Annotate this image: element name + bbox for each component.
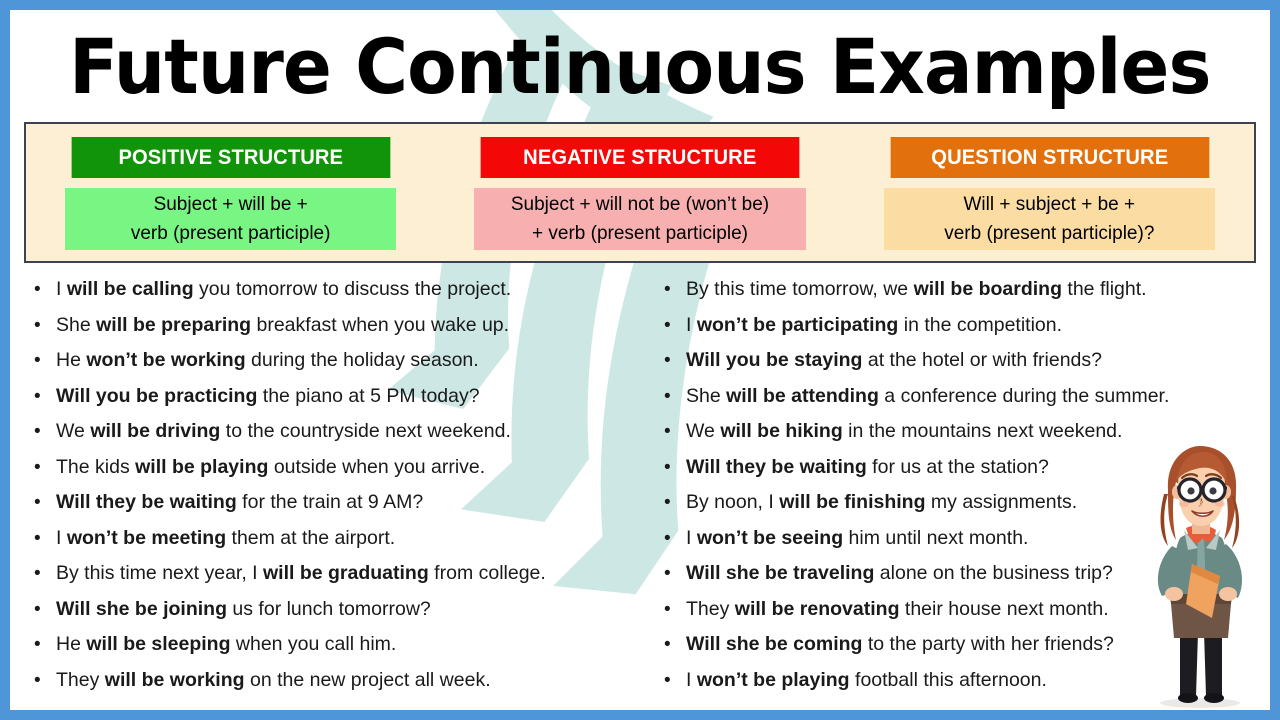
- example-sentence: They will be renovating their house next…: [686, 598, 1264, 621]
- example-item: •They will be renovating their house nex…: [664, 598, 1264, 634]
- bullet-icon: •: [34, 493, 56, 512]
- example-sentence: They will be working on the new project …: [56, 669, 634, 692]
- example-sentence: He won’t be working during the holiday s…: [56, 349, 634, 372]
- bullet-icon: •: [664, 387, 686, 406]
- example-sentence: She will be attending a conference durin…: [686, 385, 1264, 408]
- question-structure-body: Will + subject + be + verb (present part…: [884, 188, 1216, 250]
- example-item: •We will be hiking in the mountains next…: [664, 420, 1264, 456]
- bullet-icon: •: [34, 280, 56, 299]
- example-highlight: Will you be practicing: [56, 385, 257, 407]
- example-highlight: will be working: [105, 669, 245, 691]
- example-sentence: He will be sleeping when you call him.: [56, 633, 634, 656]
- examples-column-left: •I will be calling you tomorrow to discu…: [10, 268, 640, 710]
- example-sentence: By this time tomorrow, we will be boardi…: [686, 278, 1264, 301]
- example-item: •Will she be coming to the party with he…: [664, 633, 1264, 669]
- page-title-text: Future Continuous Examples: [69, 29, 1210, 105]
- example-item: •Will you be practicing the piano at 5 P…: [34, 385, 634, 421]
- example-item: •Will she be joining us for lunch tomorr…: [34, 598, 634, 634]
- bullet-icon: •: [34, 316, 56, 335]
- example-highlight: will be graduating: [263, 562, 429, 584]
- example-highlight: Will she be coming: [686, 633, 862, 655]
- bullet-icon: •: [664, 422, 686, 441]
- positive-structure-body: Subject + will be + verb (present partic…: [65, 188, 397, 250]
- example-highlight: will be playing: [135, 456, 268, 478]
- example-item: •He won’t be working during the holiday …: [34, 349, 634, 385]
- negative-structure-header: NEGATIVE STRUCTURE: [481, 137, 799, 178]
- examples-area: •I will be calling you tomorrow to discu…: [10, 268, 1270, 710]
- examples-column-right: •By this time tomorrow, we will be board…: [640, 268, 1270, 710]
- example-sentence: Will you be practicing the piano at 5 PM…: [56, 385, 634, 408]
- example-item: •The kids will be playing outside when y…: [34, 456, 634, 492]
- example-sentence: The kids will be playing outside when yo…: [56, 456, 634, 479]
- question-structure-header: QUESTION STRUCTURE: [890, 137, 1208, 178]
- example-highlight: will be renovating: [735, 598, 900, 620]
- example-highlight: will be driving: [90, 420, 220, 442]
- example-highlight: will be preparing: [96, 314, 251, 336]
- example-highlight: won’t be working: [86, 349, 245, 371]
- example-highlight: won’t be playing: [697, 669, 850, 691]
- example-highlight: will be boarding: [914, 278, 1062, 300]
- example-highlight: Will they be waiting: [56, 491, 237, 513]
- example-highlight: Will she be joining: [56, 598, 227, 620]
- bullet-icon: •: [34, 671, 56, 690]
- negative-structure-line2: + verb (present participle): [532, 219, 748, 248]
- structure-column-positive: POSITIVE STRUCTURE Subject + will be + v…: [26, 124, 435, 261]
- example-item: •Will they be waiting for us at the stat…: [664, 456, 1264, 492]
- negative-structure-line1: Subject + will not be (won’t be): [511, 190, 769, 219]
- example-sentence: I won’t be meeting them at the airport.: [56, 527, 634, 550]
- example-sentence: We will be driving to the countryside ne…: [56, 420, 634, 443]
- example-item: •By this time tomorrow, we will be board…: [664, 278, 1264, 314]
- example-highlight: will be finishing: [779, 491, 925, 513]
- example-highlight: will be attending: [726, 385, 879, 407]
- example-highlight: Will you be staying: [686, 349, 862, 371]
- example-sentence: Will they be waiting for the train at 9 …: [56, 491, 634, 514]
- example-highlight: won’t be meeting: [67, 527, 226, 549]
- example-item: •Will they be waiting for the train at 9…: [34, 491, 634, 527]
- question-structure-line2: verb (present participle)?: [944, 219, 1154, 248]
- structure-column-question: QUESTION STRUCTURE Will + subject + be +…: [845, 124, 1254, 261]
- example-sentence: Will you be staying at the hotel or with…: [686, 349, 1264, 372]
- bullet-icon: •: [34, 422, 56, 441]
- example-item: •She will be attending a conference duri…: [664, 385, 1264, 421]
- example-sentence: I won’t be participating in the competit…: [686, 314, 1264, 337]
- example-sentence: By noon, I will be finishing my assignme…: [686, 491, 1264, 514]
- example-highlight: Will she be traveling: [686, 562, 874, 584]
- example-highlight: won’t be seeing: [697, 527, 843, 549]
- bullet-icon: •: [34, 529, 56, 548]
- bullet-icon: •: [34, 387, 56, 406]
- example-item: •I will be calling you tomorrow to discu…: [34, 278, 634, 314]
- bullet-icon: •: [664, 564, 686, 583]
- example-highlight: will be hiking: [720, 420, 842, 442]
- example-sentence: Will they be waiting for us at the stati…: [686, 456, 1264, 479]
- bullet-icon: •: [664, 280, 686, 299]
- positive-structure-header: POSITIVE STRUCTURE: [72, 137, 390, 178]
- example-item: •By this time next year, I will be gradu…: [34, 562, 634, 598]
- example-item: •She will be preparing breakfast when yo…: [34, 314, 634, 350]
- bullet-icon: •: [664, 458, 686, 477]
- bullet-icon: •: [664, 671, 686, 690]
- structure-panel: POSITIVE STRUCTURE Subject + will be + v…: [24, 122, 1256, 263]
- example-item: •I won’t be seeing him until next month.: [664, 527, 1264, 563]
- bullet-icon: •: [34, 564, 56, 583]
- example-item: •Will she be traveling alone on the busi…: [664, 562, 1264, 598]
- bullet-icon: •: [664, 493, 686, 512]
- example-sentence: I won’t be seeing him until next month.: [686, 527, 1264, 550]
- bullet-icon: •: [34, 600, 56, 619]
- bullet-icon: •: [34, 458, 56, 477]
- example-sentence: I won’t be playing football this afterno…: [686, 669, 1264, 692]
- bullet-icon: •: [34, 351, 56, 370]
- bullet-icon: •: [664, 316, 686, 335]
- example-highlight: won’t be participating: [697, 314, 899, 336]
- example-sentence: She will be preparing breakfast when you…: [56, 314, 634, 337]
- positive-structure-line2: verb (present participle): [131, 219, 331, 248]
- worksheet-page: Future Continuous Examples POSITIVE STRU…: [0, 0, 1280, 720]
- question-structure-line1: Will + subject + be +: [964, 190, 1136, 219]
- example-item: •By noon, I will be finishing my assignm…: [664, 491, 1264, 527]
- example-sentence: We will be hiking in the mountains next …: [686, 420, 1264, 443]
- example-highlight: will be calling: [67, 278, 194, 300]
- bullet-icon: •: [34, 635, 56, 654]
- example-highlight: will be sleeping: [86, 633, 230, 655]
- example-item: •He will be sleeping when you call him.: [34, 633, 634, 669]
- bullet-icon: •: [664, 351, 686, 370]
- example-sentence: Will she be coming to the party with her…: [686, 633, 1264, 656]
- bullet-icon: •: [664, 635, 686, 654]
- structure-column-negative: NEGATIVE STRUCTURE Subject + will not be…: [435, 124, 844, 261]
- example-item: •They will be working on the new project…: [34, 669, 634, 705]
- page-title: Future Continuous Examples: [10, 18, 1270, 116]
- example-item: •Will you be staying at the hotel or wit…: [664, 349, 1264, 385]
- example-highlight: Will they be waiting: [686, 456, 867, 478]
- example-sentence: I will be calling you tomorrow to discus…: [56, 278, 634, 301]
- bullet-icon: •: [664, 529, 686, 548]
- example-sentence: Will she be traveling alone on the busin…: [686, 562, 1264, 585]
- negative-structure-body: Subject + will not be (won’t be) + verb …: [474, 188, 806, 250]
- bullet-icon: •: [664, 600, 686, 619]
- example-sentence: By this time next year, I will be gradua…: [56, 562, 634, 585]
- positive-structure-line1: Subject + will be +: [154, 190, 308, 219]
- example-item: •I won’t be playing football this aftern…: [664, 669, 1264, 705]
- example-sentence: Will she be joining us for lunch tomorro…: [56, 598, 634, 621]
- example-item: •I won’t be meeting them at the airport.: [34, 527, 634, 563]
- example-item: •We will be driving to the countryside n…: [34, 420, 634, 456]
- example-item: •I won’t be participating in the competi…: [664, 314, 1264, 350]
